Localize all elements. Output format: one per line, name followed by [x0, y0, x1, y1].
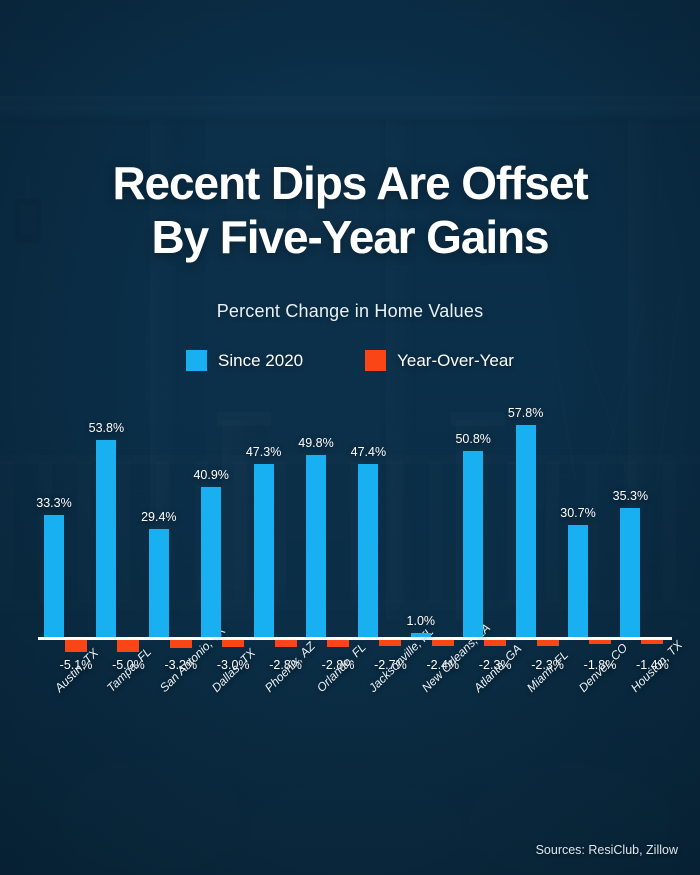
bar-value-label-since-2020: 53.8% — [76, 421, 136, 435]
legend-swatch-icon — [365, 350, 386, 371]
bar-value-label-since-2020: 1.0% — [391, 614, 451, 628]
bar-value-label-since-2020: 47.4% — [338, 445, 398, 459]
bar-year-over-year[interactable] — [275, 640, 297, 647]
bar-since-2020[interactable] — [306, 455, 326, 637]
bar-value-label-since-2020: 50.8% — [443, 432, 503, 446]
bar-value-label-since-2020: 35.3% — [600, 489, 660, 503]
bar-since-2020[interactable] — [411, 633, 431, 637]
bar-since-2020[interactable] — [254, 464, 274, 637]
bar-since-2020[interactable] — [620, 508, 640, 637]
legend-swatch-icon — [186, 350, 207, 371]
bar-value-label-since-2020: 33.3% — [24, 496, 84, 510]
bar-value-label-since-2020: 49.8% — [286, 436, 346, 450]
legend-label: Year-Over-Year — [397, 351, 514, 371]
bar-value-label-since-2020: 30.7% — [548, 506, 608, 520]
bar-since-2020[interactable] — [568, 525, 588, 637]
bar-year-over-year[interactable] — [379, 640, 401, 646]
chart-legend: Since 2020Year-Over-Year — [0, 350, 700, 371]
chart-subtitle: Percent Change in Home Values — [0, 301, 700, 322]
bar-year-over-year[interactable] — [641, 640, 663, 644]
chart-title: Recent Dips Are Offset By Five-Year Gain… — [0, 156, 700, 265]
bar-since-2020[interactable] — [96, 440, 116, 637]
bar-year-over-year[interactable] — [484, 640, 506, 646]
bar-since-2020[interactable] — [463, 451, 483, 637]
bar-year-over-year[interactable] — [327, 640, 349, 647]
chart-title-line-1: Recent Dips Are Offset — [112, 157, 587, 209]
bar-year-over-year[interactable] — [537, 640, 559, 646]
legend-item-since-2020[interactable]: Since 2020 — [186, 350, 303, 371]
bar-value-label-since-2020: 40.9% — [181, 468, 241, 482]
bar-value-label-since-2020: 57.8% — [496, 406, 556, 420]
infographic-root: Recent Dips Are Offset By Five-Year Gain… — [0, 0, 700, 875]
source-attribution: Sources: ResiClub, Zillow — [536, 843, 678, 857]
bar-since-2020[interactable] — [516, 425, 536, 637]
chart-content: Recent Dips Are Offset By Five-Year Gain… — [0, 0, 700, 875]
bar-value-label-since-2020: 47.3% — [234, 445, 294, 459]
bar-year-over-year[interactable] — [117, 640, 139, 652]
bar-since-2020[interactable] — [201, 487, 221, 637]
bar-year-over-year[interactable] — [65, 640, 87, 652]
chart-title-line-2: By Five-Year Gains — [0, 210, 700, 264]
bar-year-over-year[interactable] — [432, 640, 454, 646]
bar-year-over-year[interactable] — [222, 640, 244, 647]
bar-value-label-since-2020: 29.4% — [129, 510, 189, 524]
bar-since-2020[interactable] — [149, 529, 169, 637]
bar-since-2020[interactable] — [44, 515, 64, 637]
bar-since-2020[interactable] — [358, 464, 378, 637]
bar-year-over-year[interactable] — [589, 640, 611, 644]
chart-plot-area: 33.3%-5.1%Austin, TX53.8%-5.0%Tampa, FL2… — [24, 395, 676, 645]
legend-item-year-over-year[interactable]: Year-Over-Year — [365, 350, 514, 371]
legend-label: Since 2020 — [218, 351, 303, 371]
bar-year-over-year[interactable] — [170, 640, 192, 648]
